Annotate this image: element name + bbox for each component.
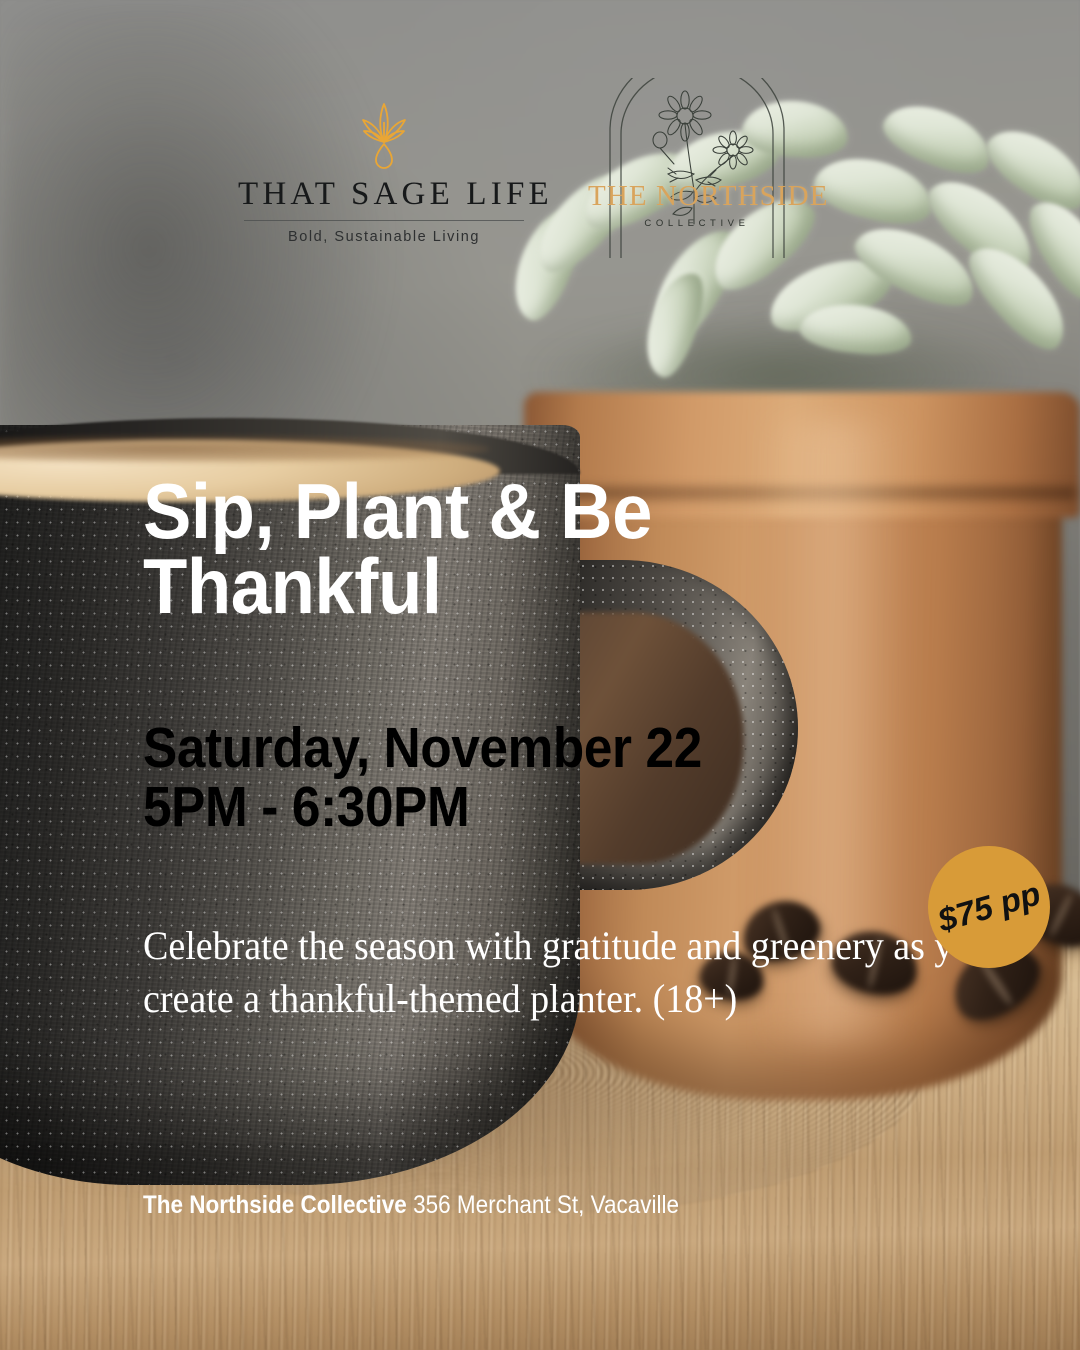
sage-leaf-droplet-icon bbox=[351, 100, 417, 172]
venue-line: The Northside Collective 356 Merchant St… bbox=[143, 1192, 935, 1220]
price-badge-label: $75 pp bbox=[934, 874, 1045, 939]
logo-row: THAT SAGE LIFE Bold, Sustainable Living bbox=[0, 0, 1080, 270]
northside-logo-subtitle: COLLECTIVE bbox=[588, 218, 806, 229]
event-headline: Sip, Plant & Be Thankful bbox=[143, 474, 720, 624]
sage-logo-name: THAT SAGE LIFE bbox=[238, 178, 530, 211]
event-flyer: THAT SAGE LIFE Bold, Sustainable Living bbox=[0, 0, 1080, 1350]
event-time: 5PM - 6:30PM bbox=[143, 778, 737, 837]
northside-collective-logo: THE NORTHSIDE COLLECTIVE bbox=[588, 78, 806, 258]
sage-logo-rule bbox=[244, 220, 524, 221]
event-description: Celebrate the season with gratitude and … bbox=[143, 920, 998, 1026]
event-date: Saturday, November 22 bbox=[143, 719, 737, 778]
price-badge: $75 pp bbox=[928, 846, 1050, 968]
sage-logo-tagline: Bold, Sustainable Living bbox=[238, 229, 530, 245]
venue-name: The Northside Collective bbox=[143, 1191, 407, 1219]
event-datetime: Saturday, November 22 5PM - 6:30PM bbox=[143, 719, 737, 836]
venue-address: 356 Merchant St, Vacaville bbox=[413, 1191, 679, 1219]
that-sage-life-logo: THAT SAGE LIFE Bold, Sustainable Living bbox=[238, 100, 530, 245]
arch-wildflower-icon bbox=[588, 78, 806, 258]
northside-logo-name: THE NORTHSIDE bbox=[588, 182, 806, 211]
